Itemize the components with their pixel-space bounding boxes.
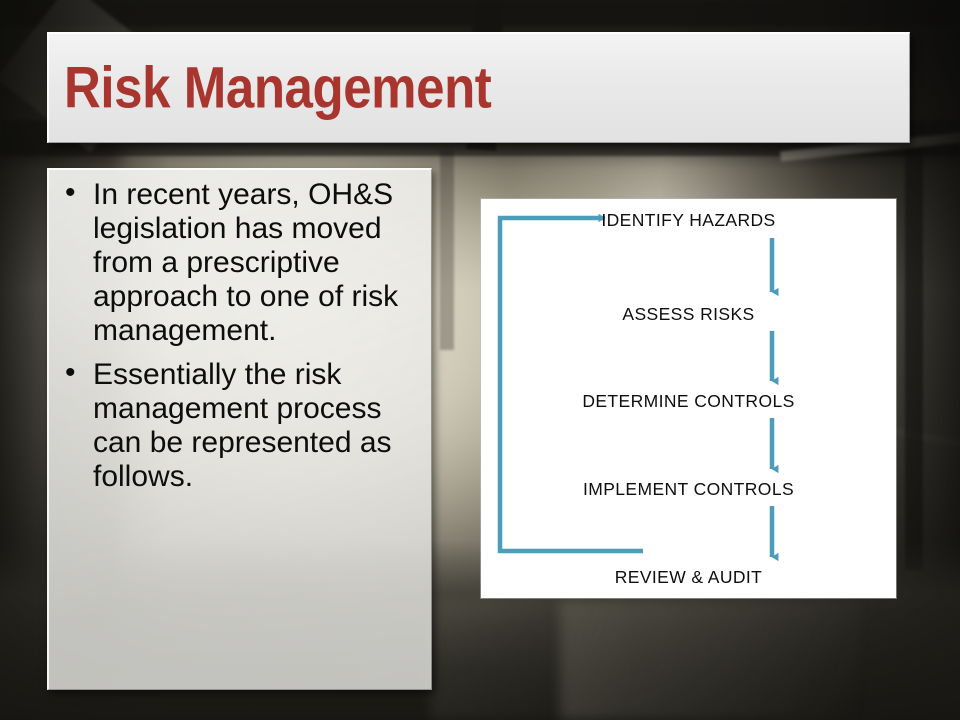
flow-step-assess-risks: ASSESS RISKS	[481, 304, 896, 325]
list-item: Essentially the risk management process …	[59, 358, 419, 494]
page-title: Risk Management	[64, 55, 491, 122]
flow-step-label: IMPLEMENT CONTROLS	[583, 479, 794, 500]
vertical-column	[440, 150, 454, 350]
bullet-list: In recent years, OH&S legislation has mo…	[59, 178, 419, 494]
flow-step-label: ASSESS RISKS	[622, 304, 754, 325]
flow-step-identify-hazards: IDENTIFY HAZARDS	[481, 210, 896, 231]
flow-step-label: REVIEW & AUDIT	[615, 567, 763, 588]
flow-step-review-audit: REVIEW & AUDIT	[481, 567, 896, 588]
arrow-feedback-loop	[500, 218, 643, 551]
risk-management-flowchart: IDENTIFY HAZARDS ASSESS RISKS DETERMINE …	[481, 199, 896, 598]
body-text-panel: In recent years, OH&S legislation has mo…	[47, 168, 432, 690]
background-floor-streak	[430, 600, 630, 720]
flow-step-label: IDENTIFY HAZARDS	[601, 210, 775, 231]
slide: Risk Management In recent years, OH&S le…	[0, 0, 960, 720]
title-plate: Risk Management	[47, 32, 910, 143]
flow-step-implement-controls: IMPLEMENT CONTROLS	[481, 479, 896, 500]
flow-step-label: DETERMINE CONTROLS	[582, 391, 794, 412]
list-item: In recent years, OH&S legislation has mo…	[59, 178, 419, 348]
flow-step-determine-controls: DETERMINE CONTROLS	[481, 391, 896, 412]
